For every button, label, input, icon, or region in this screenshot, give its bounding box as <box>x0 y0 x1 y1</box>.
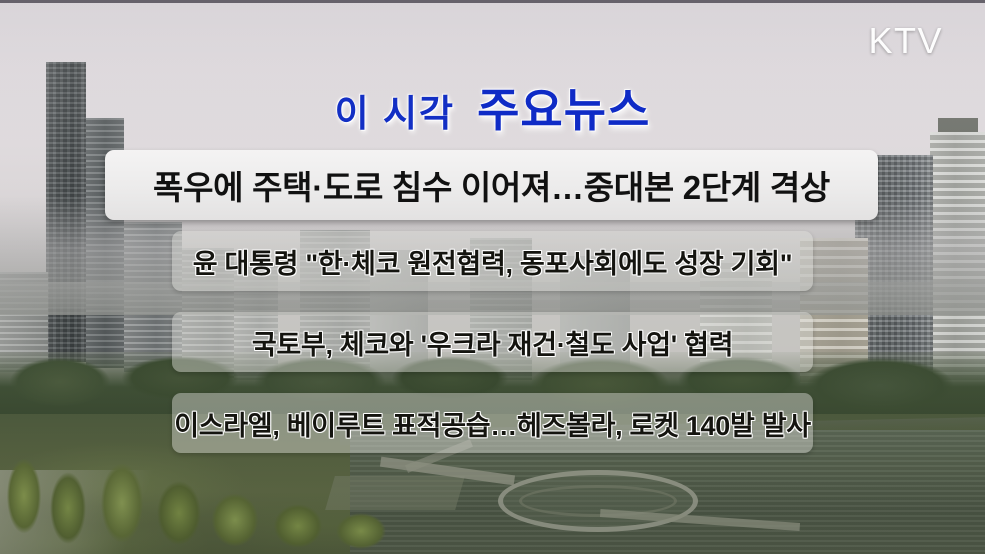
tree <box>4 448 44 544</box>
circular-deck <box>498 470 698 532</box>
pier-platform <box>325 476 465 510</box>
headline-item-2[interactable]: 윤 대통령 "한·체코 원전협력, 동포사회에도 성장 기회" <box>172 231 813 291</box>
tree <box>96 452 148 554</box>
program-title-prefix: 이 시각 <box>335 93 455 134</box>
ktv-channel-logo: KTV <box>868 20 943 62</box>
headline-item-1[interactable]: 폭우에 주택·도로 침수 이어져…중대본 2단계 격상 <box>105 150 878 220</box>
program-title: 이 시각주요뉴스 <box>0 74 985 140</box>
tree <box>152 472 206 554</box>
headline-item-4[interactable]: 이스라엘, 베이루트 표적공습…헤즈볼라, 로켓 140발 발사 <box>172 393 813 453</box>
program-title-main: 주요뉴스 <box>477 84 650 136</box>
tree <box>330 508 392 554</box>
top-edge-line <box>0 0 985 3</box>
tree <box>206 486 264 554</box>
headline-item-3[interactable]: 국토부, 체코와 '우크라 재건·철도 사업' 협력 <box>172 312 813 372</box>
broadcast-screen: KTV 이 시각주요뉴스 폭우에 주택·도로 침수 이어져…중대본 2단계 격상… <box>0 0 985 554</box>
tree <box>46 462 90 554</box>
tree <box>268 498 328 554</box>
